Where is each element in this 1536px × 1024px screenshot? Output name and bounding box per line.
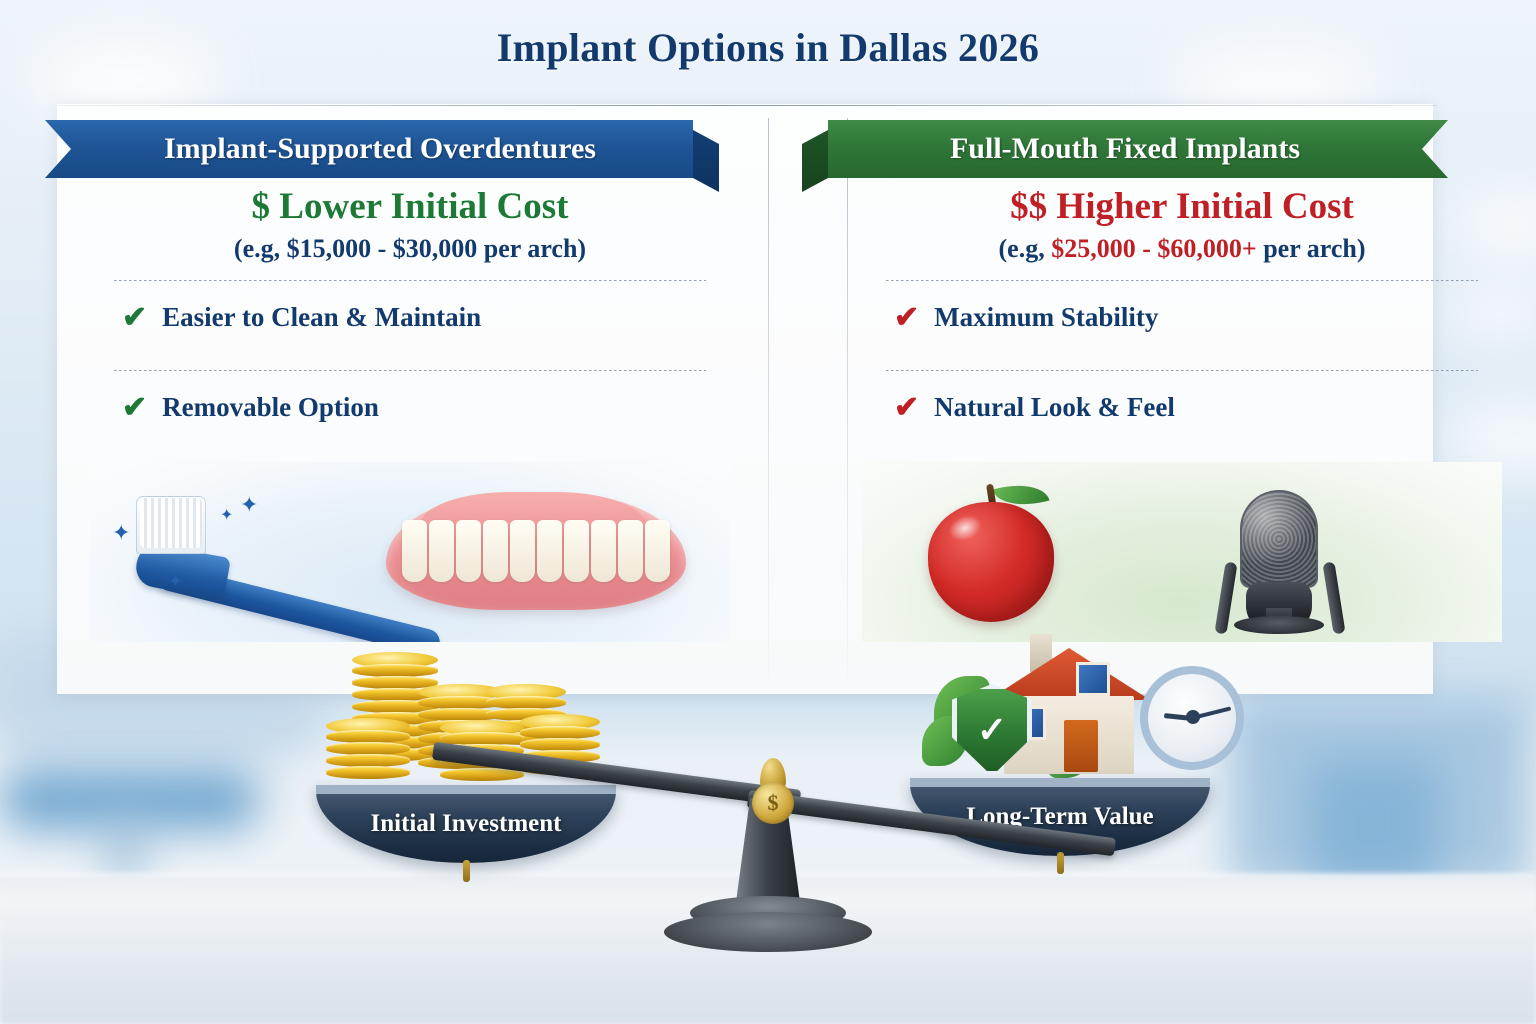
tooth — [402, 520, 427, 582]
feature-label: Maximum Stability — [934, 302, 1158, 333]
toothbrush-bristles-icon — [140, 498, 202, 548]
tooth — [483, 520, 508, 582]
banner-label-left: Implant-Supported Overdentures — [164, 132, 596, 166]
tooth — [564, 520, 589, 582]
cost-range-amount-left: $15,000 - $30,000 — [287, 234, 478, 263]
cost-range-prefix-right: (e.g, — [999, 234, 1052, 263]
tooth — [618, 520, 643, 582]
cost-range-suffix-right: per arch) — [1257, 234, 1366, 263]
denture-teeth-icon — [402, 520, 670, 582]
cost-range-suffix-left: per arch) — [477, 234, 586, 263]
banner-full-mouth-fixed-implants: Full-Mouth Fixed Implants — [828, 120, 1448, 178]
column-divider-right — [847, 118, 848, 678]
tooth — [537, 520, 562, 582]
cost-range-left: (e.g, $15,000 - $30,000 per arch) — [90, 234, 730, 264]
house-window-icon — [1076, 662, 1110, 696]
scale-pan-rod-left — [463, 860, 470, 882]
sparkle-icon: ✦ — [240, 494, 258, 516]
scale-base-lower — [664, 912, 872, 952]
column-overdentures: $ Lower Initial Cost (e.g, $15,000 - $30… — [90, 186, 730, 444]
balance-scale: Initial Investment ✓ Long-Term Value $ — [0, 610, 1536, 990]
dollar-sign-medallion-icon: $ — [752, 782, 794, 824]
feature-row: ✔ Natural Look & Feel — [862, 371, 1502, 444]
tooth — [429, 520, 454, 582]
check-icon: ✔ — [894, 303, 919, 333]
feature-label: Easier to Clean & Maintain — [162, 302, 481, 333]
feature-row: ✔ Maximum Stability — [862, 281, 1502, 354]
tooth — [591, 520, 616, 582]
banner-implant-supported-overdentures: Implant-Supported Overdentures — [45, 120, 693, 178]
check-icon: ✔ — [122, 393, 147, 423]
banner-label-right: Full-Mouth Fixed Implants — [950, 132, 1300, 166]
microphone-grille-icon — [1240, 490, 1318, 588]
tooth — [645, 520, 670, 582]
coin — [326, 766, 410, 779]
cost-headline-right: $$ Higher Initial Cost — [862, 186, 1502, 227]
cost-range-prefix-left: (e.g, — [234, 234, 287, 263]
sparkle-icon: ✦ — [112, 522, 130, 544]
feature-label: Removable Option — [162, 392, 379, 423]
tooth — [456, 520, 481, 582]
clock-icon — [1140, 666, 1244, 770]
clock-center-dot — [1186, 710, 1200, 724]
panel-top-rule — [57, 105, 1437, 106]
sparkle-icon: ✦ — [220, 508, 233, 524]
feature-row: ✔ Removable Option — [90, 371, 730, 444]
page-title: Implant Options in Dallas 2026 — [0, 24, 1536, 71]
column-divider-left — [768, 118, 769, 678]
cost-range-amount-right: $25,000 - $60,000+ — [1051, 234, 1256, 263]
feature-row: ✔ Easier to Clean & Maintain — [90, 281, 730, 354]
apple-icon — [928, 502, 1054, 622]
check-icon: ✔ — [894, 393, 919, 423]
cost-range-right: (e.g, $25,000 - $60,000+ per arch) — [862, 234, 1502, 264]
scale-pan-left-label: Initial Investment — [371, 810, 562, 838]
scale-pan-rod-right — [1057, 852, 1064, 874]
feature-label: Natural Look & Feel — [934, 392, 1175, 423]
tooth — [510, 520, 535, 582]
column-fixed-implants: $$ Higher Initial Cost (e.g, $25,000 - $… — [862, 186, 1502, 444]
scale-pan-left: Initial Investment — [316, 785, 616, 863]
check-icon: ✔ — [122, 303, 147, 333]
house-door-icon — [1064, 720, 1098, 772]
cost-headline-left: $ Lower Initial Cost — [90, 186, 730, 227]
sparkle-icon: ✦ — [168, 572, 183, 590]
